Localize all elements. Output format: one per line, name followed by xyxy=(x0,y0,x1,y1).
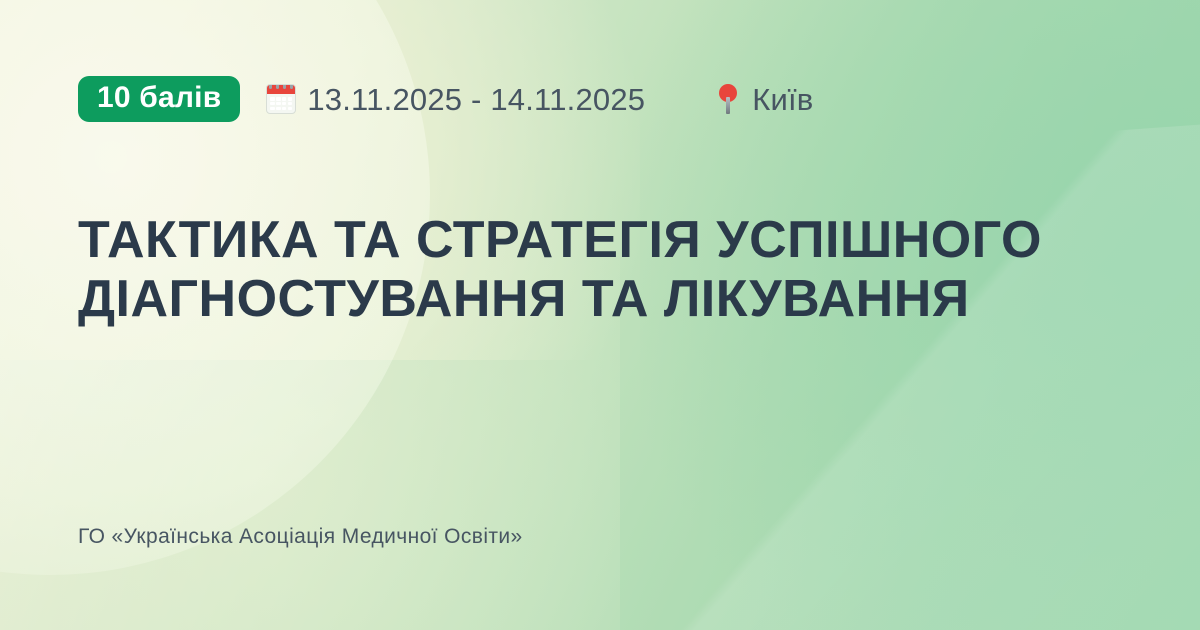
event-meta-row: 10 балів 13.11.2025 - 14.11.2025 xyxy=(78,76,813,122)
event-title: ТАКТИКА ТА СТРАТЕГІЯ УСПІШНОГО ДІАГНОСТУ… xyxy=(78,211,1130,329)
event-date-group: 13.11.2025 - 14.11.2025 xyxy=(266,84,645,115)
event-location-city: Київ xyxy=(752,84,813,115)
calendar-icon-grid xyxy=(270,97,292,110)
event-date-range: 13.11.2025 - 14.11.2025 xyxy=(307,84,645,115)
points-badge: 10 балів xyxy=(78,76,240,122)
event-banner: 10 балів 13.11.2025 - 14.11.2025 xyxy=(0,0,1200,630)
calendar-icon xyxy=(266,84,296,114)
map-pin-icon xyxy=(715,83,741,115)
banner-content: 10 балів 13.11.2025 - 14.11.2025 xyxy=(0,0,1200,630)
event-location-group: Київ xyxy=(715,83,813,115)
event-title-line-1: ТАКТИКА ТА СТРАТЕГІЯ УСПІШНОГО xyxy=(78,211,1130,270)
event-title-line-2: ДІАГНОСТУВАННЯ ТА ЛІКУВАННЯ xyxy=(78,270,1130,329)
organizer-name: ГО «Українська Асоціація Медичної Освіти… xyxy=(78,524,523,549)
calendar-icon-rings xyxy=(269,84,293,89)
map-pin-icon-needle xyxy=(726,97,730,114)
